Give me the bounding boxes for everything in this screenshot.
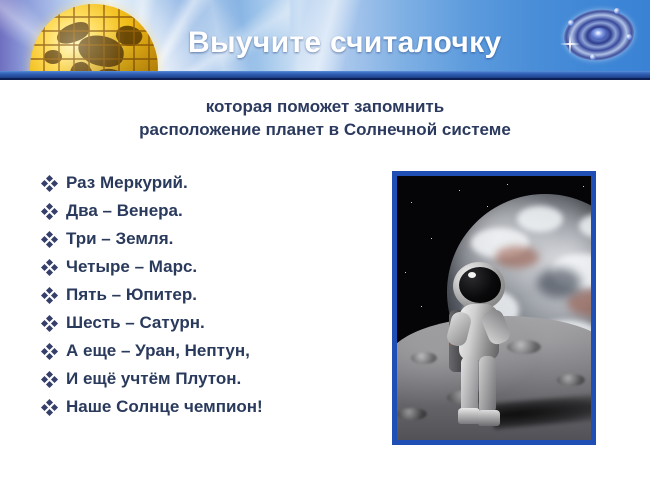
diamond-cluster-bullet-icon xyxy=(42,344,58,361)
list-item-label: И ещё учтём Плутон. xyxy=(66,368,241,389)
diamond-cluster-bullet-icon xyxy=(42,400,58,417)
rhyme-list: Раз Меркурий. Два – Венера. Три – Земля.… xyxy=(42,172,372,424)
galaxy-core xyxy=(591,28,607,40)
diamond-cluster-bullet-icon xyxy=(42,316,58,333)
list-item: Раз Меркурий. xyxy=(42,172,372,200)
galaxy-orb xyxy=(590,54,596,60)
diamond-cluster-bullet-icon xyxy=(42,288,58,305)
golden-wireframe-globe-icon xyxy=(30,4,158,80)
astronaut-photo-frame xyxy=(392,171,596,445)
list-item-label: Три – Земля. xyxy=(66,228,173,249)
visor-glint xyxy=(468,272,476,278)
list-item: Три – Земля. xyxy=(42,228,372,256)
diamond-cluster-bullet-icon xyxy=(42,176,58,193)
list-item-label: Пять – Юпитер. xyxy=(66,284,197,305)
list-item-label: Наше Солнце чемпион! xyxy=(66,396,263,417)
list-item: Наше Солнце чемпион! xyxy=(42,396,372,424)
list-item: И ещё учтём Плутон. xyxy=(42,368,372,396)
astronaut-figure xyxy=(441,262,519,432)
list-item: Пять – Юпитер. xyxy=(42,284,372,312)
diamond-cluster-bullet-icon xyxy=(42,232,58,249)
list-item-label: Четыре – Марс. xyxy=(66,256,197,277)
diamond-cluster-bullet-icon xyxy=(42,372,58,389)
list-item: А еще – Уран, Нептун, xyxy=(42,340,372,368)
galaxy-sparkle-icon xyxy=(560,34,580,54)
diamond-cluster-bullet-icon xyxy=(42,260,58,277)
list-item-label: Раз Меркурий. xyxy=(66,172,188,193)
slide-subtitle: которая поможет запомнить расположение п… xyxy=(0,95,650,141)
list-item-label: Шесть – Сатурн. xyxy=(66,312,205,333)
slide-title: Выучите считалочку xyxy=(188,26,501,60)
galaxy-orb xyxy=(614,8,620,14)
galaxy-orb xyxy=(626,34,632,40)
subtitle-line-2: расположение планет в Солнечной системе xyxy=(0,118,650,141)
helmet-visor xyxy=(459,267,501,303)
list-item-label: А еще – Уран, Нептун, xyxy=(66,340,250,361)
diamond-cluster-bullet-icon xyxy=(42,204,58,221)
subtitle-line-1: которая поможет запомнить xyxy=(0,95,650,118)
list-item: Четыре – Марс. xyxy=(42,256,372,284)
list-item: Два – Венера. xyxy=(42,200,372,228)
list-item: Шесть – Сатурн. xyxy=(42,312,372,340)
astronaut-photo xyxy=(397,176,591,440)
banner-bottom-stripe xyxy=(0,71,650,80)
header-banner: Выучите считалочку xyxy=(0,0,650,80)
spiral-galaxy-icon xyxy=(560,4,638,66)
list-item-label: Два – Венера. xyxy=(66,200,183,221)
galaxy-orb xyxy=(568,20,574,26)
